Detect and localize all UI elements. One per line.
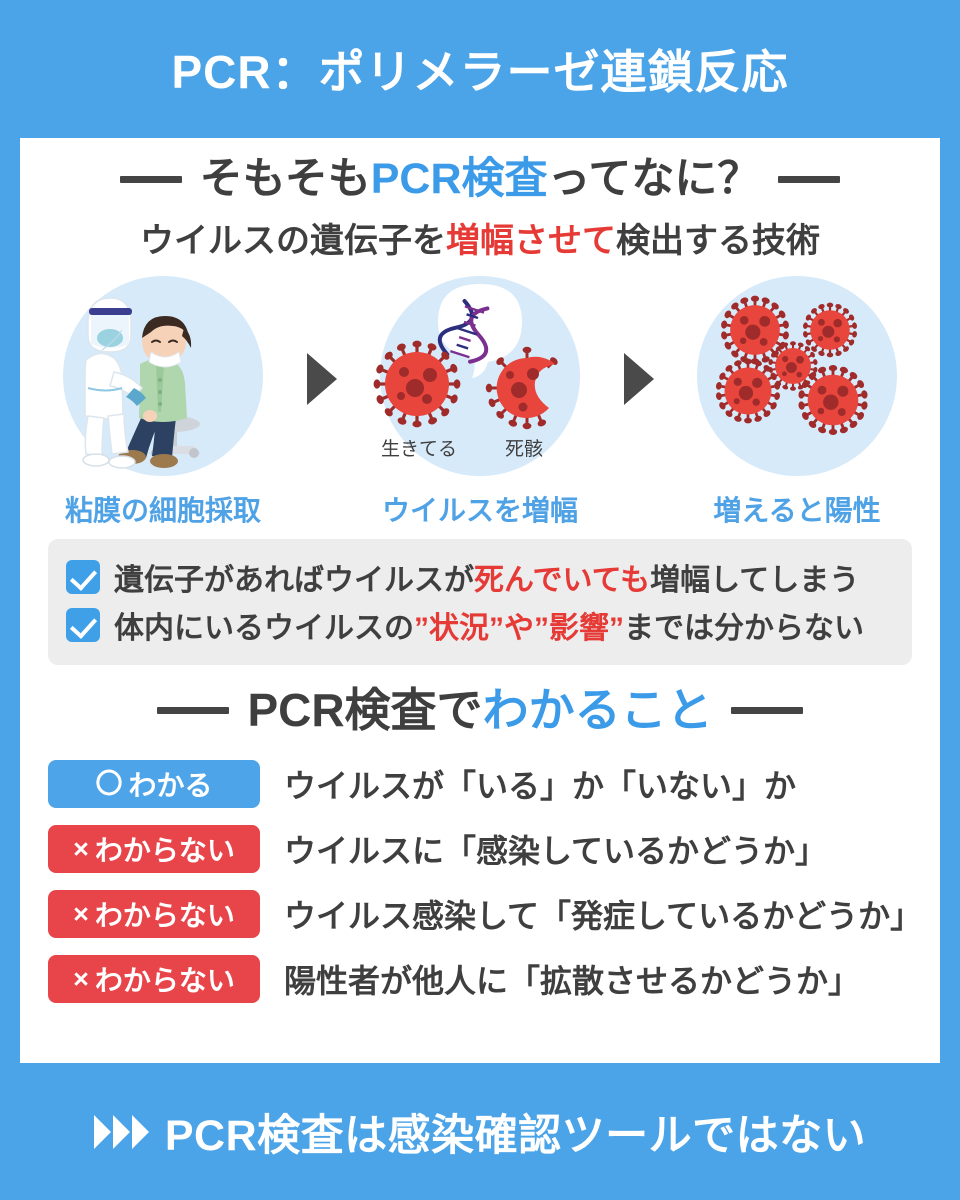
page-title: PCR：ポリメラーゼ連鎖反応 [171, 36, 788, 102]
positive-illustration [686, 276, 908, 481]
panel-label-positive: 増えると陽性 [713, 489, 880, 529]
checklist-text-post: 増幅してしまう [650, 564, 859, 597]
page-header: PCR：ポリメラーゼ連鎖反応 [0, 0, 960, 138]
swab-collection-icon [52, 276, 274, 481]
result-row-text: 陽性者が他人に「拡散させるかどうか」 [284, 956, 860, 1002]
section2-heading-text: PCR検査でわかること [247, 685, 712, 736]
checklist-box: 遺伝子があればウイルスが死んでいても増幅してしまう 体内にいるウイルスの”状況”… [48, 539, 912, 665]
check-icon [66, 608, 100, 642]
heading-dash-right [731, 707, 803, 714]
subtitle-pre: ウイルスの遺伝子を [140, 222, 446, 260]
status-badge-unknown: × わからない [48, 825, 260, 873]
section1-heading-post: ってなに？ [548, 155, 761, 203]
badge-label: わからない [95, 829, 235, 869]
section1-heading-text: そもそもPCR検査ってなに？ [200, 156, 761, 203]
badge-label: わからない [95, 959, 235, 999]
chevrons-right-icon [94, 1115, 149, 1149]
virus-alive-label: 生きてる [381, 434, 457, 461]
footer-text: PCR検査は感染確認ツールではない [165, 1101, 866, 1163]
status-badge-known: 〇 わかる [48, 760, 260, 808]
heading-dash-left [120, 176, 182, 183]
process-panel-positive: 増えると陽性 [686, 276, 908, 529]
checklist-item: 体内にいるウイルスの”状況”や”影響”までは分からない [66, 603, 894, 647]
checklist-text-post: までは分からない [624, 612, 864, 645]
cross-mark-icon: × [73, 966, 89, 993]
result-row: 〇 わかる ウイルスが「いる」か「いない」か [48, 752, 912, 817]
panel-label-collection: 粘膜の細胞採取 [65, 489, 261, 529]
checklist-item: 遺伝子があればウイルスが死んでいても増幅してしまう [66, 555, 894, 599]
chevron-right-icon [94, 1115, 111, 1149]
status-badge-unknown: × わからない [48, 890, 260, 938]
section2-heading-highlight: わかること [483, 684, 713, 736]
result-row-text: ウイルスが「いる」か「いない」か [284, 761, 796, 807]
arrow-right-icon [307, 353, 337, 405]
panel-label-amplify: ウイルスを増幅 [382, 489, 578, 529]
page-footer: PCR検査は感染確認ツールではない [0, 1063, 960, 1200]
process-arrow-1 [301, 276, 343, 481]
checklist-text-pre: 体内にいるウイルスの [114, 612, 414, 645]
process-panel-collection: 粘膜の細胞採取 [52, 276, 274, 529]
checklist-text-highlight: 死んでいても [474, 564, 650, 597]
result-row-text: ウイルスに「感染しているかどうか」 [284, 826, 827, 872]
chevron-right-icon [113, 1115, 130, 1149]
heading-dash-left [157, 707, 229, 714]
chevron-right-icon [132, 1115, 149, 1149]
section1-heading: そもそもPCR検査ってなに？ [48, 156, 912, 203]
checklist-text-pre: 遺伝子があればウイルスが [114, 564, 474, 597]
subtitle-post: 検出する技術 [616, 222, 820, 260]
content-card: そもそもPCR検査ってなに？ ウイルスの遺伝子を増幅させて検出する技術 [20, 138, 940, 1063]
status-badge-unknown: × わからない [48, 955, 260, 1003]
many-viruses-icon [686, 276, 908, 481]
badge-label: わかる [128, 764, 212, 804]
result-list: 〇 わかる ウイルスが「いる」か「いない」か × わからない ウイルスに「感染し… [48, 752, 912, 1012]
circle-mark-icon: 〇 [95, 771, 122, 798]
heading-dash-right [778, 176, 840, 183]
virus-dead-label: 死骸 [505, 434, 543, 461]
arrow-right-icon [624, 353, 654, 405]
collection-illustration [52, 276, 274, 481]
result-row: × わからない ウイルスに「感染しているかどうか」 [48, 817, 912, 882]
section1-heading-highlight: PCR検査 [371, 155, 548, 203]
process-panel-amplify: 生きてる 死骸 ウイルスを増幅 [369, 276, 591, 529]
result-row: × わからない ウイルス感染して「発症しているかどうか」 [48, 882, 912, 947]
process-flow: 粘膜の細胞採取 [48, 276, 912, 529]
section1-subtitle: ウイルスの遺伝子を増幅させて検出する技術 [48, 213, 912, 262]
cross-mark-icon: × [73, 836, 89, 863]
check-icon [66, 560, 100, 594]
result-row: × わからない 陽性者が他人に「拡散させるかどうか」 [48, 947, 912, 1012]
process-arrow-2 [618, 276, 660, 481]
section1-heading-pre: そもそも [200, 155, 371, 203]
result-row-text: ウイルス感染して「発症しているかどうか」 [284, 891, 922, 937]
cross-mark-icon: × [73, 901, 89, 928]
section2-heading-pre: PCR検査で [247, 684, 482, 736]
section2-heading: PCR検査でわかること [48, 685, 912, 736]
badge-label: わからない [95, 894, 235, 934]
checklist-item-text: 遺伝子があればウイルスが死んでいても増幅してしまう [114, 555, 859, 599]
checklist-item-text: 体内にいるウイルスの”状況”や”影響”までは分からない [114, 603, 864, 647]
checklist-text-highlight: ”状況”や”影響” [414, 612, 624, 645]
subtitle-highlight: 増幅させて [446, 222, 616, 260]
amplify-illustration: 生きてる 死骸 [369, 276, 591, 481]
